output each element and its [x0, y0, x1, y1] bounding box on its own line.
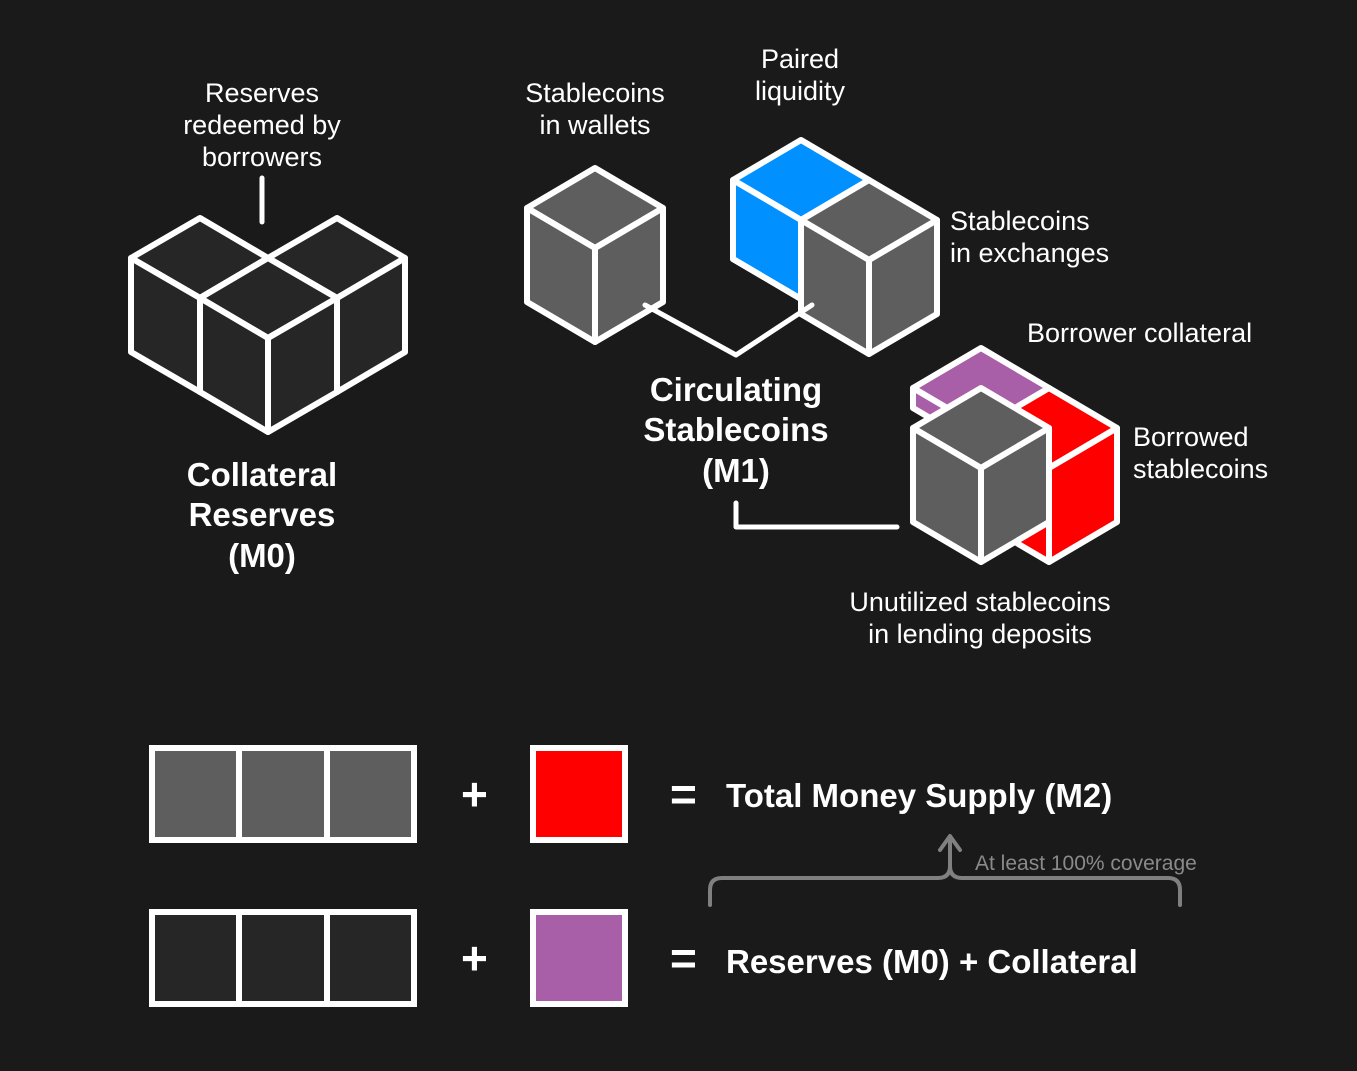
label-unutilized-stablecoins: Unutilized stablecoins in lending deposi… [820, 587, 1140, 651]
cube-group-m0 [131, 218, 405, 432]
label-paired-liquidity: Paired liquidity [705, 44, 895, 108]
label-borrower-collateral: Borrower collateral [1027, 318, 1317, 350]
eq-row2-square [533, 912, 625, 1004]
eq-row1-plus: + [461, 771, 488, 817]
cube-group-exchange [733, 140, 937, 354]
label-stablecoins-in-wallets: Stablecoins in wallets [485, 78, 705, 142]
label-circulating-stablecoins-m1: Circulating Stablecoins (M1) [598, 370, 874, 491]
eq-row1-equals: = [670, 771, 697, 817]
diagram-canvas: Reserves redeemed by borrowers Stablecoi… [0, 0, 1357, 1071]
eq-row1-square [533, 748, 625, 840]
cube-m0-front-center [200, 258, 337, 432]
label-collateral-reserves-m0: Collateral Reserves (M0) [122, 455, 402, 576]
label-reserves-redeemed: Reserves redeemed by borrowers [142, 78, 382, 174]
connector-m1-vee [645, 305, 812, 355]
eq-row2-bar [152, 912, 414, 1004]
label-stablecoins-in-exchanges: Stablecoins in exchanges [950, 206, 1180, 270]
connector-m1-lending [736, 503, 897, 527]
eq-row1-result: Total Money Supply (M2) [726, 777, 1112, 815]
eq-row1-bar [152, 748, 414, 840]
eq-row2-result: Reserves (M0) + Collateral [726, 943, 1138, 981]
eq-row2-equals: = [670, 935, 697, 981]
cube-stablecoins-in-exchanges [801, 180, 937, 354]
eq-row2-plus: + [461, 935, 488, 981]
label-borrowed-stablecoins: Borrowed stablecoins [1133, 422, 1353, 486]
cube-group-wallet [527, 168, 663, 342]
cube-unutilized-stablecoins [913, 388, 1049, 562]
coverage-note: At least 100% coverage [975, 852, 1197, 876]
cube-group-lending [913, 348, 1117, 562]
